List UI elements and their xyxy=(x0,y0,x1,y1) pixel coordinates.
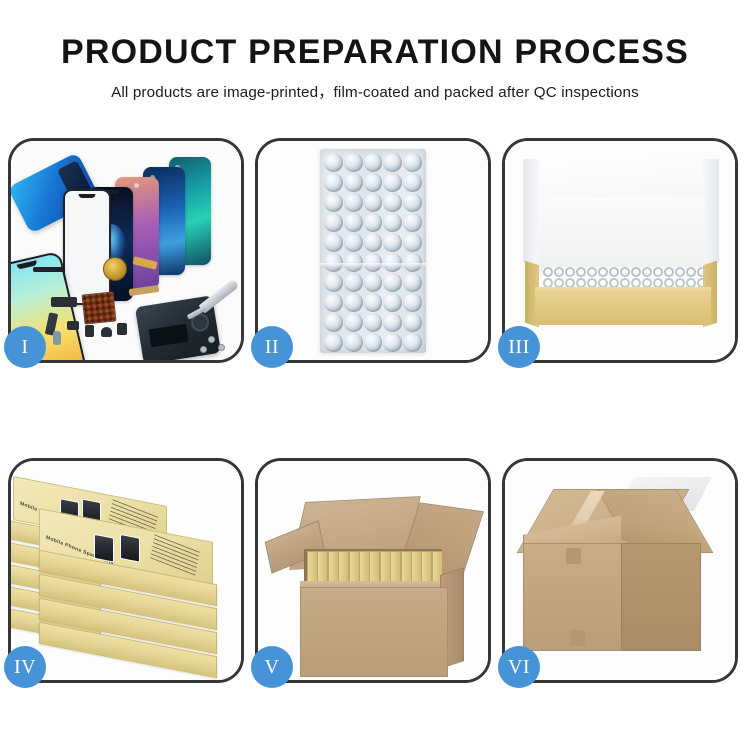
process-step-panel-2: II xyxy=(255,138,491,363)
bubble-cell xyxy=(364,193,383,212)
page-title: PRODUCT PREPARATION PROCESS xyxy=(0,34,750,71)
bubble-cell xyxy=(344,233,363,252)
step-badge-3: III xyxy=(498,326,540,368)
bubble-cell xyxy=(344,153,363,172)
panel-1-image xyxy=(11,141,241,360)
kraft-box-screen-b2 xyxy=(120,534,140,563)
bubble-cell xyxy=(364,173,383,192)
bubble-cell xyxy=(364,213,383,232)
small-part-1-icon xyxy=(67,321,79,330)
small-part-4-icon xyxy=(117,323,127,335)
panel-2-image xyxy=(258,141,488,360)
sealed-carton-side xyxy=(621,543,701,651)
foam-sheet-icon xyxy=(539,197,705,275)
kraft-box-screen-a2 xyxy=(94,534,114,563)
bubble-cell xyxy=(324,153,343,172)
bubble-cell xyxy=(403,213,422,232)
kraft-box-stack: Mobile Phone Spare Parts Mobile Phone Sp… xyxy=(11,461,241,680)
flex-cable-3-icon xyxy=(51,297,77,307)
stacked-boxes-scene: Mobile Phone Spare Parts Mobile Phone Sp… xyxy=(11,461,241,680)
bubble-cell xyxy=(344,213,363,232)
bubble-cell xyxy=(324,173,343,192)
speaker-coil-icon xyxy=(103,257,127,281)
bubble-cell xyxy=(383,153,402,172)
bubble-cell xyxy=(383,173,402,192)
process-step-panel-5: V xyxy=(255,458,491,683)
bubble-cell xyxy=(364,273,383,292)
step-badge-6: VI xyxy=(498,646,540,688)
process-step-panel-1: I xyxy=(8,138,244,363)
bubble-cell xyxy=(383,233,402,252)
bubble-cell xyxy=(324,333,343,352)
panel-6-image xyxy=(505,461,735,680)
small-part-3-icon xyxy=(101,327,112,337)
connector-grid-icon xyxy=(82,291,117,324)
bubble-cell xyxy=(324,213,343,232)
bubble-cell xyxy=(403,153,422,172)
bubble-cell xyxy=(324,193,343,212)
carton-front-panel xyxy=(300,587,448,677)
panel-4-image: Mobile Phone Spare Parts Mobile Phone Sp… xyxy=(11,461,241,680)
bubble-cell xyxy=(324,313,343,332)
bubble-cell xyxy=(364,333,383,352)
process-step-grid: I II III xyxy=(8,138,742,683)
bubble-cell xyxy=(383,273,402,292)
process-step-panel-4: Mobile Phone Spare Parts Mobile Phone Sp… xyxy=(8,458,244,683)
process-step-panel-6: VI xyxy=(502,458,738,683)
screw-1-icon xyxy=(209,337,214,342)
step-badge-1: I xyxy=(4,326,46,368)
bubble-wrap-seam xyxy=(320,263,426,268)
sealed-carton-scene xyxy=(505,461,735,680)
bubble-cell xyxy=(344,293,363,312)
bubble-cell xyxy=(344,333,363,352)
panel-3-image xyxy=(505,141,735,360)
bubble-cell xyxy=(403,293,422,312)
page-subtitle: All products are image-printed，film-coat… xyxy=(0,80,750,102)
bubble-cell xyxy=(324,273,343,292)
open-carton-scene xyxy=(258,461,488,680)
small-part-5-icon xyxy=(53,331,61,345)
bubble-cell xyxy=(403,193,422,212)
panel-5-image xyxy=(258,461,488,680)
small-part-2-icon xyxy=(85,325,94,337)
phone-parts-scene xyxy=(11,141,241,360)
bubble-cell xyxy=(324,293,343,312)
bubble-wrap-scene xyxy=(258,141,488,360)
phone-white-icon xyxy=(63,189,111,305)
earpiece-strip-icon xyxy=(33,267,65,272)
bubble-cell xyxy=(364,293,383,312)
carton-handle-notch-bottom xyxy=(570,630,585,646)
screw-2-icon xyxy=(219,345,224,350)
step-badge-4: IV xyxy=(4,646,46,688)
bubble-cell xyxy=(344,193,363,212)
bubble-cell xyxy=(403,273,422,292)
bubble-cell xyxy=(383,213,402,232)
carton-handle-notch-top xyxy=(566,548,581,564)
bubble-cell xyxy=(403,173,422,192)
bubble-cell xyxy=(383,293,402,312)
bubble-cell xyxy=(364,313,383,332)
bubble-cell xyxy=(364,153,383,172)
bubble-cell xyxy=(383,313,402,332)
process-step-panel-3: III xyxy=(502,138,738,363)
sealed-carton-front xyxy=(523,543,623,651)
bubble-cell xyxy=(344,173,363,192)
box-front-panel xyxy=(535,293,711,325)
bubble-cell xyxy=(403,313,422,332)
bubble-cell xyxy=(403,233,422,252)
kraft-box-text-lines-2 xyxy=(150,533,200,575)
bubble-grid xyxy=(324,153,422,349)
inner-box-scene xyxy=(505,141,735,360)
step-badge-5: V xyxy=(251,646,293,688)
screw-3-icon xyxy=(201,347,206,352)
header: PRODUCT PREPARATION PROCESS All products… xyxy=(0,0,750,102)
bubble-cell xyxy=(324,233,343,252)
bubble-cell xyxy=(344,313,363,332)
bubble-cell xyxy=(403,333,422,352)
bubble-cell xyxy=(364,233,383,252)
bubble-cell xyxy=(383,333,402,352)
step-badge-2: II xyxy=(251,326,293,368)
bubble-wrap-sleeve-icon xyxy=(320,149,426,353)
bubble-cell xyxy=(344,273,363,292)
bubble-cell xyxy=(383,193,402,212)
